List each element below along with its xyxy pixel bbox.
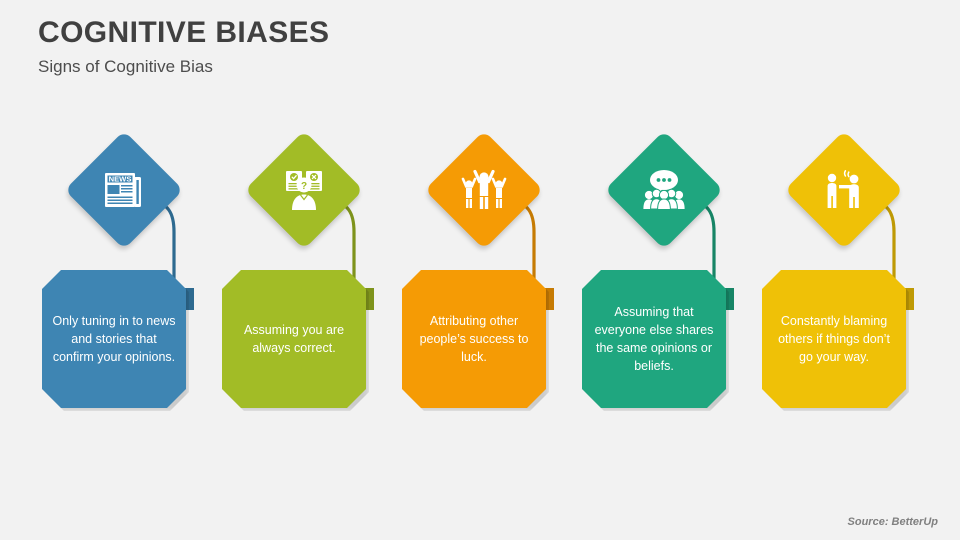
bias-card-text: Assuming you are always correct. [232, 321, 356, 357]
slide-header: COGNITIVE BIASES Signs of Cognitive Bias [38, 16, 329, 77]
icon-badge[interactable] [622, 148, 706, 232]
blaming-people-icon [802, 148, 886, 232]
person-documents-icon: ? [262, 148, 346, 232]
celebrating-people-icon [442, 148, 526, 232]
icon-badge[interactable] [442, 148, 526, 232]
bias-card[interactable]: Constantly blaming others if things don’… [762, 270, 906, 408]
bias-card[interactable]: Only tuning in to news and stories that … [42, 270, 186, 408]
bias-item[interactable]: Only tuning in to news and stories that … [24, 140, 204, 440]
bias-card[interactable]: Assuming you are always correct. [222, 270, 366, 408]
bias-card-text: Attributing other people’s success to lu… [412, 312, 536, 366]
bias-card-text: Only tuning in to news and stories that … [52, 312, 176, 366]
bias-item[interactable]: Attributing other people’s success to lu… [384, 140, 564, 440]
bias-card-text: Constantly blaming others if things don’… [772, 312, 896, 366]
bias-card-row: Only tuning in to news and stories that … [0, 140, 960, 440]
icon-badge[interactable] [802, 148, 886, 232]
bias-card[interactable]: Assuming that everyone else shares the s… [582, 270, 726, 408]
page-subtitle: Signs of Cognitive Bias [38, 57, 329, 77]
page-title: COGNITIVE BIASES [38, 16, 329, 51]
icon-badge[interactable]: ? [262, 148, 346, 232]
svg-text:NEWS: NEWS [109, 175, 132, 184]
icon-badge[interactable]: NEWS [82, 148, 166, 232]
bias-card-text: Assuming that everyone else shares the s… [592, 303, 716, 376]
bias-card[interactable]: Attributing other people’s success to lu… [402, 270, 546, 408]
source-label: Source: BetterUp [848, 516, 938, 528]
bias-item[interactable]: Constantly blaming others if things don’… [744, 140, 924, 440]
slide-canvas: COGNITIVE BIASES Signs of Cognitive Bias… [0, 0, 960, 540]
speech-bubble-group-icon [622, 148, 706, 232]
newspaper-icon: NEWS [82, 148, 166, 232]
bias-item[interactable]: Assuming you are always correct. [204, 140, 384, 440]
bias-item[interactable]: Assuming that everyone else shares the s… [564, 140, 744, 440]
svg-text:?: ? [301, 181, 307, 192]
